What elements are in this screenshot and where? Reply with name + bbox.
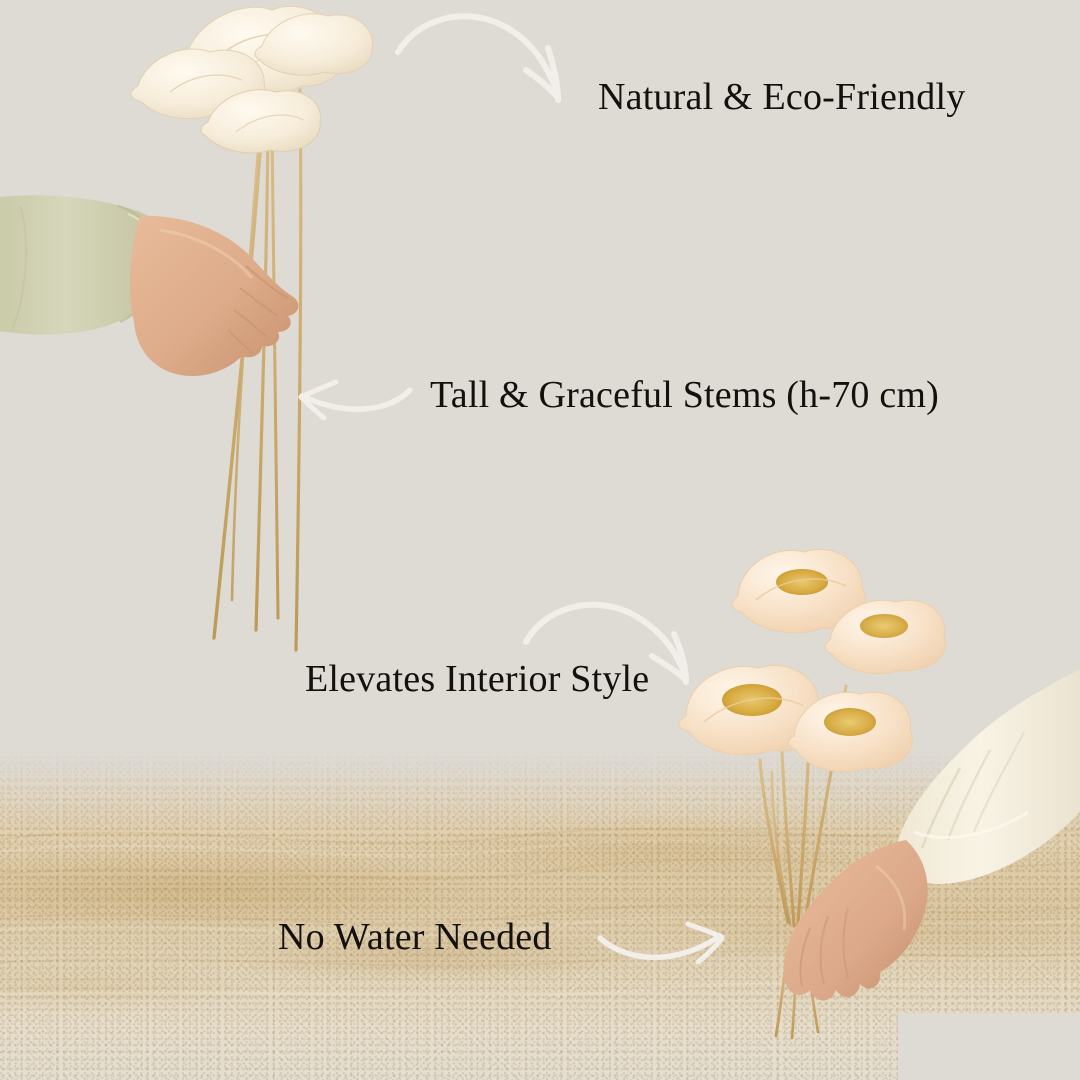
lower-bouquet-group (660, 510, 1080, 1080)
feature-label-elevates: Elevates Interior Style (305, 660, 649, 698)
upper-bouquet-group (0, 0, 420, 700)
lower-flowers (679, 549, 946, 771)
upper-flowers (131, 6, 373, 153)
feature-label-natural: Natural & Eco-Friendly (598, 78, 965, 116)
lower-sleeve (896, 660, 1080, 884)
infographic-canvas: Natural & Eco-Friendly Tall & Graceful S… (0, 0, 1080, 1080)
feature-label-nowater: No Water Needed (278, 918, 552, 956)
curved-arrow-down-right-icon (392, 8, 582, 112)
feature-label-stems: Tall & Graceful Stems (h-70 cm) (430, 376, 939, 414)
curved-arrow-left-icon (292, 370, 414, 432)
upper-stems (214, 90, 301, 650)
lower-hand (784, 840, 928, 1001)
curved-arrow-right-icon (592, 912, 732, 980)
